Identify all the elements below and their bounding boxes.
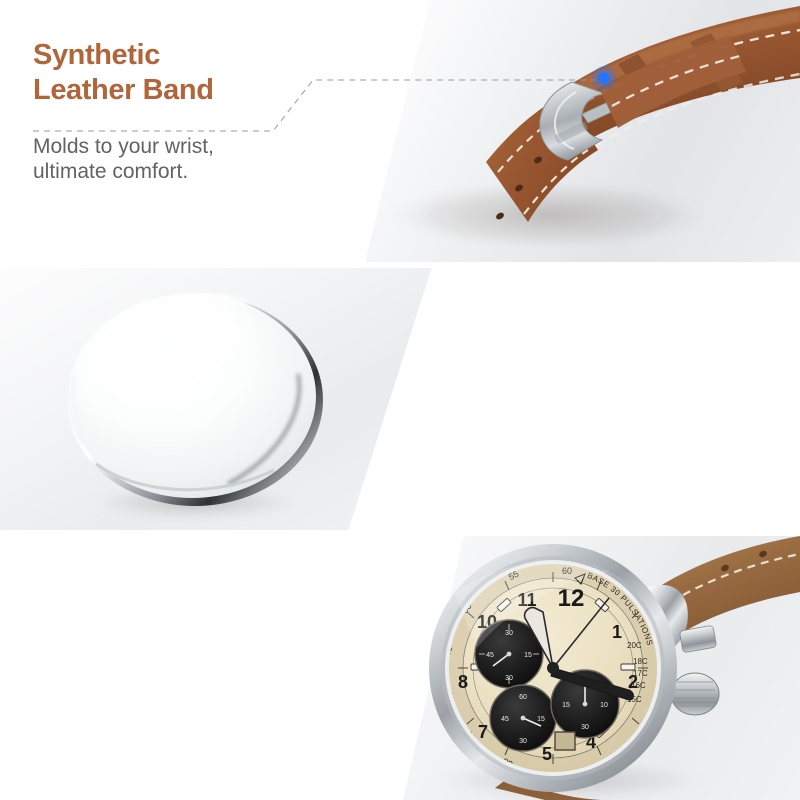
watch-subdial-bottom: 60 15 30 45 bbox=[490, 685, 556, 751]
feature-panel-quartz-movement: 12 1 2 4 5 7 8 10 11 55 60 50 45 40 bbox=[0, 536, 800, 800]
svg-text:18C: 18C bbox=[633, 657, 648, 666]
mineral-glass-image bbox=[30, 278, 360, 528]
watch-hands-pinion bbox=[547, 662, 559, 674]
svg-text:45: 45 bbox=[501, 716, 509, 723]
svg-text:30: 30 bbox=[505, 630, 513, 637]
svg-text:15: 15 bbox=[537, 716, 545, 723]
svg-text:60: 60 bbox=[519, 694, 527, 701]
quartz-watch-image: 12 1 2 4 5 7 8 10 11 55 60 50 45 40 bbox=[395, 536, 800, 800]
svg-text:12: 12 bbox=[558, 585, 585, 612]
watch-date-window bbox=[555, 732, 575, 750]
svg-text:16C: 16C bbox=[631, 681, 646, 690]
svg-text:45: 45 bbox=[486, 652, 494, 659]
svg-text:8: 8 bbox=[458, 672, 468, 692]
svg-text:30: 30 bbox=[519, 738, 527, 745]
svg-text:30: 30 bbox=[505, 675, 513, 682]
leather-band-subtitle: Molds to your wrist, ultimate comfort. bbox=[33, 135, 333, 185]
feature-panel-mineral-glass: Mineral-Strengthened Glass Scratch-resis… bbox=[0, 268, 800, 530]
feature-panel-leather-band: Synthetic Leather Band Molds to your wri… bbox=[0, 0, 800, 262]
svg-text:20C: 20C bbox=[627, 641, 642, 650]
leather-band-title: Synthetic Leather Band bbox=[33, 38, 333, 109]
leather-band-image bbox=[300, 0, 800, 262]
svg-text:17C: 17C bbox=[633, 669, 648, 678]
svg-text:15: 15 bbox=[562, 702, 570, 709]
svg-text:10: 10 bbox=[600, 702, 608, 709]
svg-text:7: 7 bbox=[478, 722, 488, 742]
product-infographic: Synthetic Leather Band Molds to your wri… bbox=[0, 0, 800, 800]
svg-text:15: 15 bbox=[524, 652, 532, 659]
watch-crown bbox=[671, 673, 719, 715]
svg-text:5: 5 bbox=[542, 744, 552, 764]
svg-text:1: 1 bbox=[612, 622, 622, 642]
leather-band-hotspot[interactable] bbox=[598, 72, 610, 84]
leather-band-text-block: Synthetic Leather Band Molds to your wri… bbox=[33, 38, 333, 184]
svg-text:30: 30 bbox=[581, 724, 589, 731]
